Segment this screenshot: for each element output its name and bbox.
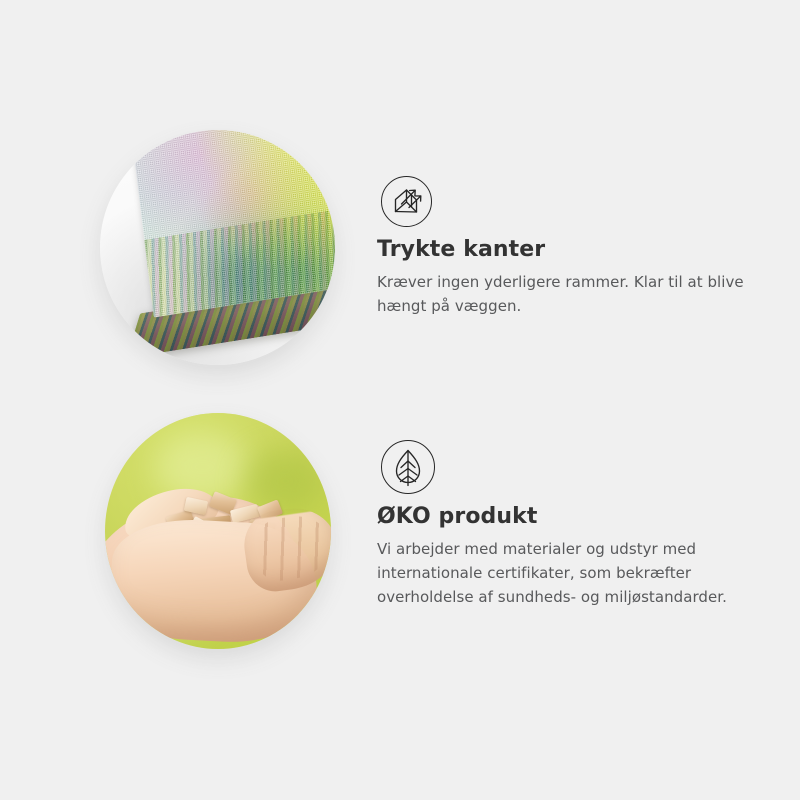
leaf-icon [381, 440, 435, 494]
feature-text-eco-product: ØKO produkt Vi arbejder med materialer o… [377, 503, 747, 609]
printed-edges-icon [381, 176, 432, 227]
wood-chips-hands-photo [105, 413, 331, 649]
feature-block-printed-edges: Trykte kanter Kræver ingen yderligere ra… [0, 120, 800, 390]
canvas-corner-photo [100, 130, 335, 365]
feature-title: Trykte kanter [377, 236, 757, 264]
wood-chips-hands-photo-wrapper [105, 413, 331, 649]
feature-block-eco-product: ØKO produkt Vi arbejder med materialer o… [0, 403, 800, 663]
product-features-page: Trykte kanter Kræver ingen yderligere ra… [0, 0, 800, 800]
canvas-corner-photo-wrapper [100, 130, 335, 365]
feature-text-printed-edges: Trykte kanter Kræver ingen yderligere ra… [377, 236, 757, 318]
meadow-background [105, 413, 331, 649]
feature-description: Kræver ingen yderligere rammer. Klar til… [377, 270, 757, 318]
feature-title: ØKO produkt [377, 503, 747, 531]
feature-description: Vi arbejder med materialer og udstyr med… [377, 537, 747, 609]
canvas-painted-face [129, 130, 335, 318]
canvas-photo-backdrop [100, 130, 335, 365]
